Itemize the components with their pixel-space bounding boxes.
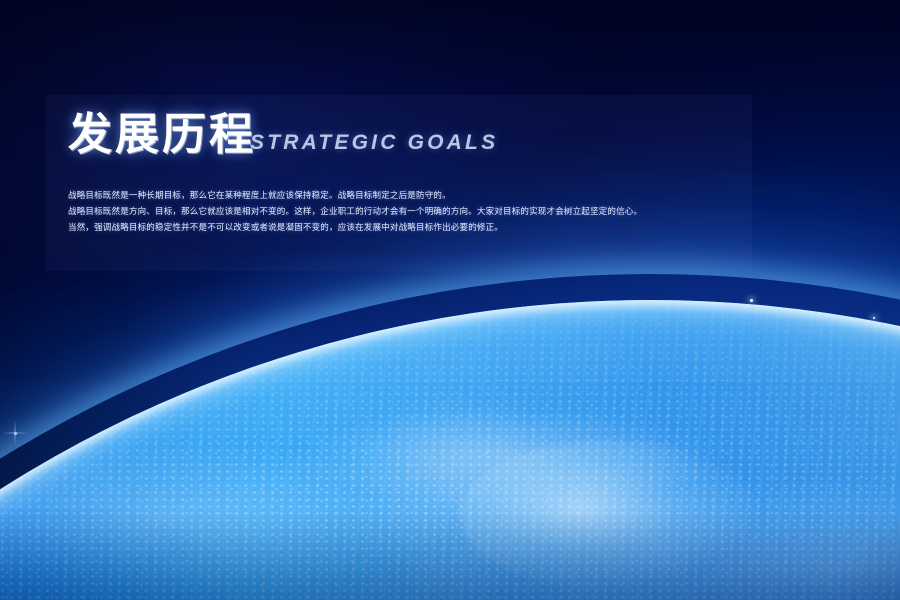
space-background <box>0 0 900 600</box>
body-copy: 战略目标既然是一种长期目标，那么它在某种程度上就应该保持稳定。战略目标制定之后是… <box>68 188 740 236</box>
body-line: 战略目标既然是一种长期目标，那么它在某种程度上就应该保持稳定。战略目标制定之后是… <box>68 188 740 204</box>
body-line: 战略目标既然是方向、目标，那么它就应该是相对不变的。这样，企业职工的行动才会有一… <box>68 204 740 220</box>
content-panel: 发展历程 STRATEGIC GOALS 战略目标既然是一种长期目标，那么它在某… <box>46 95 752 271</box>
page-subtitle: STRATEGIC GOALS <box>250 131 498 155</box>
hero-banner: 发展历程 STRATEGIC GOALS 战略目标既然是一种长期目标，那么它在某… <box>0 0 900 600</box>
heading-group: 发展历程 STRATEGIC GOALS <box>68 113 498 157</box>
body-line: 当然，强调战略目标的稳定性并不是不可以改变或者说是凝固不变的，应该在发展中对战略… <box>68 220 740 236</box>
page-title: 发展历程 <box>68 113 256 157</box>
